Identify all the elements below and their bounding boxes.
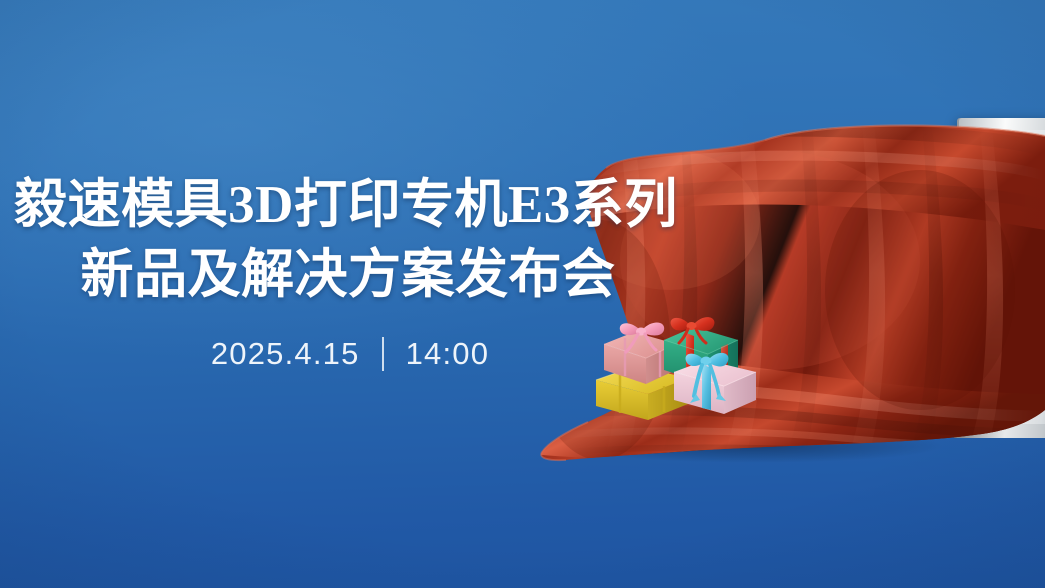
event-date: 2025.4.15	[211, 336, 360, 372]
title-block: 毅速模具3D打印专机E3系列 新品及解决方案发布会 2025.4.15 14:0…	[0, 170, 700, 372]
title-line-2: 新品及解决方案发布会	[0, 240, 700, 310]
title-line-1: 毅速模具3D打印专机E3系列	[0, 170, 700, 240]
event-poster: 毅速模具3D打印专机E3系列 新品及解决方案发布会 2025.4.15 14:0…	[0, 0, 1045, 588]
event-datetime: 2025.4.15 14:00	[0, 336, 700, 372]
datetime-separator	[382, 337, 384, 371]
event-time: 14:00	[406, 336, 490, 372]
